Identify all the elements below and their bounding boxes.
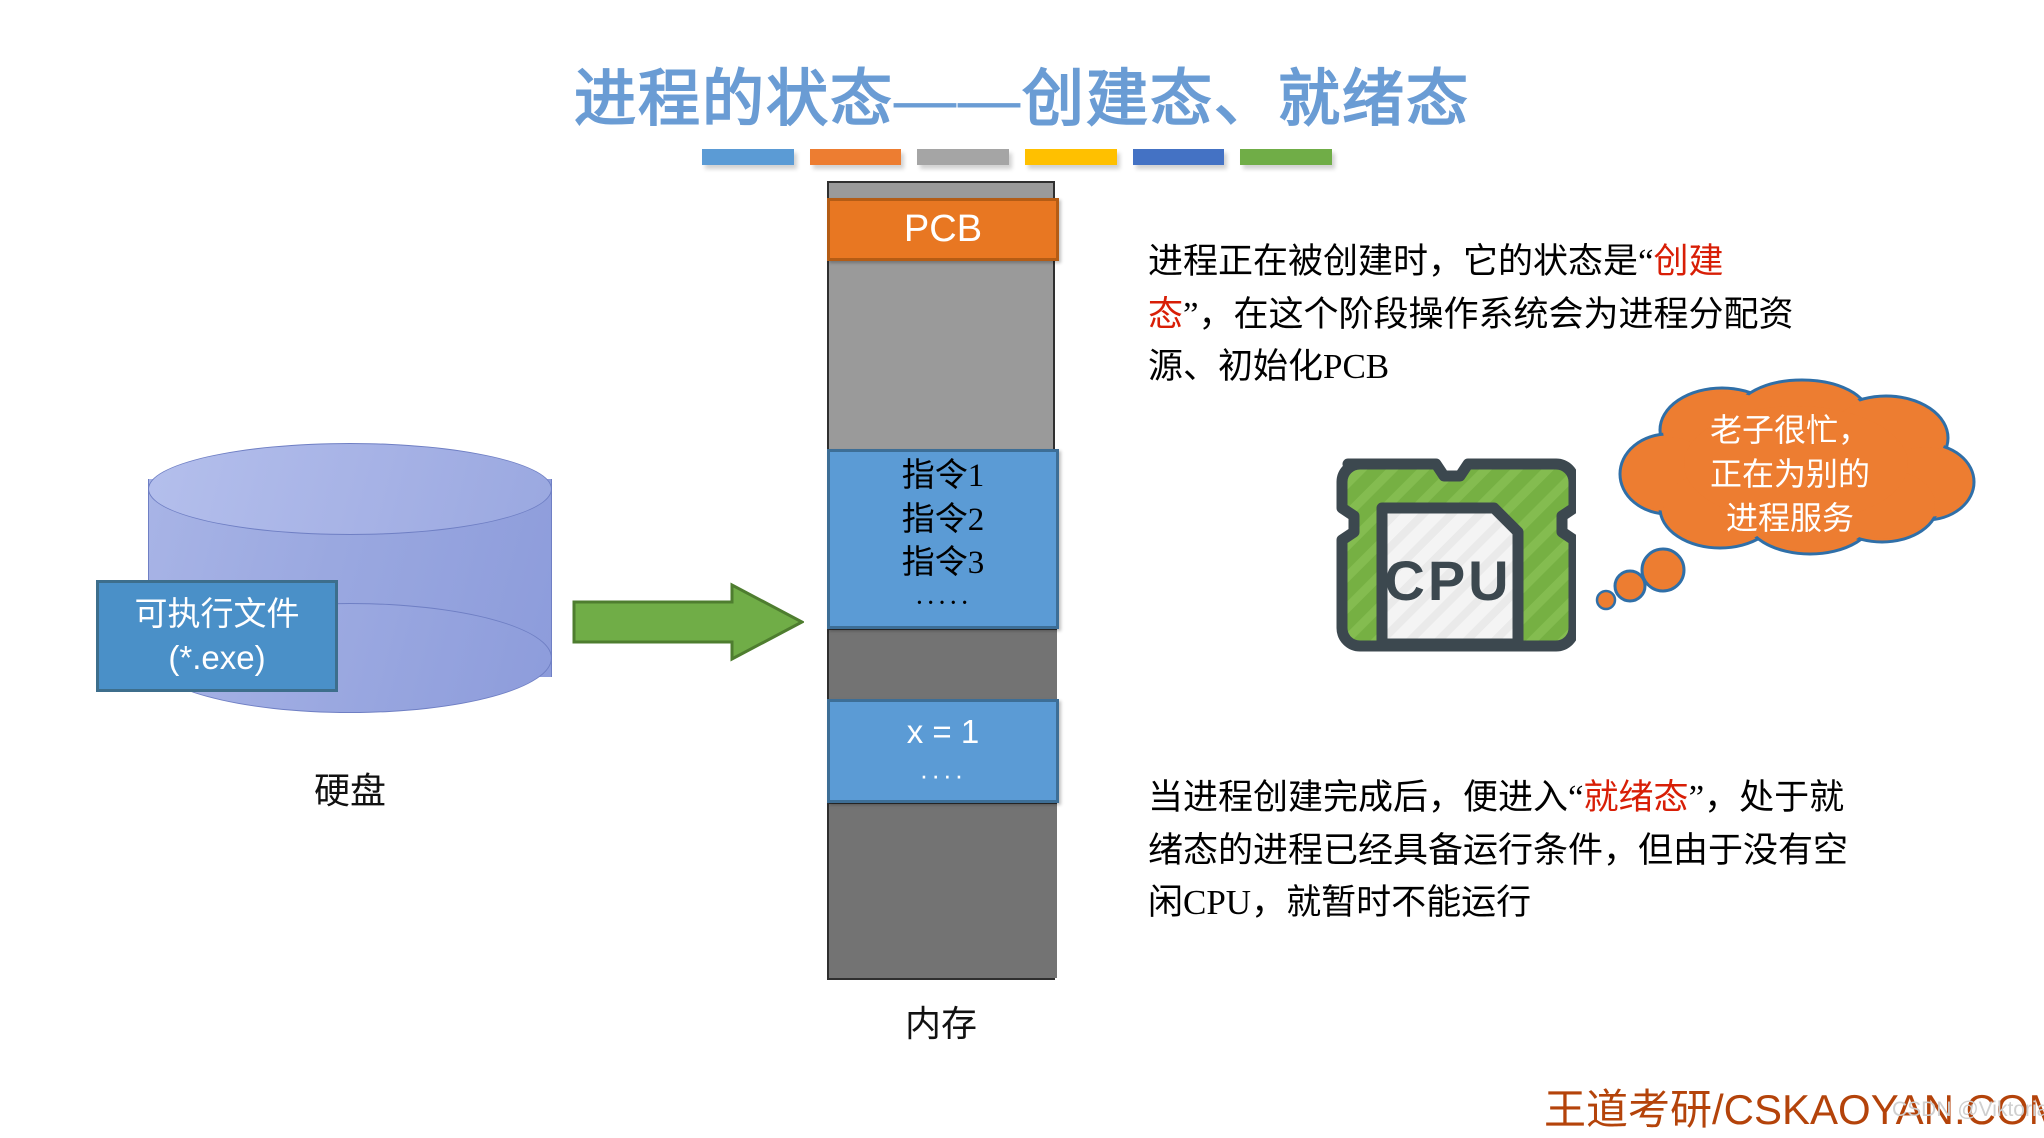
memory-block-code: 指令1 指令2 指令3 ····· <box>827 449 1059 629</box>
ready-state-highlight: 就绪态 <box>1584 778 1689 817</box>
load-arrow-icon <box>572 582 804 662</box>
create-text-part-2: ”，在这个阶段操作系统会为进程分配资源、初始化PCB <box>1148 295 1794 387</box>
create-text-part-1: 进程正在被创建时，它的状态是“ <box>1148 242 1654 281</box>
memory-block-data: x = 1 ···· <box>827 699 1059 803</box>
code-line-2: 指令2 <box>902 499 985 543</box>
cpu-icon: CPU <box>1320 442 1576 698</box>
accent-bar-green <box>1240 149 1332 165</box>
code-line-1: 指令1 <box>902 455 985 499</box>
accent-bar-orange <box>810 149 902 165</box>
code-ellipsis: ····· <box>915 586 972 623</box>
slide-canvas: 进程的状态——创建态、就绪态 可执行文件 (*.exe) 硬盘 PCB 指令1 … <box>0 0 2044 1138</box>
data-ellipsis: ···· <box>920 756 967 795</box>
accent-bar-group <box>702 149 1332 167</box>
footer-watermark: CSDN @Viktoriae <box>1892 1098 2044 1122</box>
hard-disk-label: 硬盘 <box>148 762 552 814</box>
cylinder-top <box>148 443 552 535</box>
code-line-3: 指令3 <box>902 542 985 586</box>
accent-bar-indigo <box>1133 149 1225 165</box>
data-line: x = 1 <box>907 707 979 757</box>
memory-gray-segment-bottom <box>829 803 1057 978</box>
executable-file-ext: (*.exe) <box>168 636 265 680</box>
executable-file-box: 可执行文件 (*.exe) <box>96 580 338 692</box>
accent-bar-gray <box>917 149 1009 165</box>
pcb-label: PCB <box>904 208 982 251</box>
thought-bubble <box>1610 378 1980 558</box>
memory-block-pcb: PCB <box>827 198 1059 261</box>
paragraph-ready-state: 当进程创建完成后，便进入“就绪态”，处于就绪态的进程已经具备运行条件，但由于没有… <box>1148 772 1868 930</box>
memory-column: PCB 指令1 指令2 指令3 ····· x = 1 ···· <box>827 181 1055 980</box>
cpu-text: CPU <box>1384 549 1511 612</box>
paragraph-create-state: 进程正在被创建时，它的状态是“创建态”，在这个阶段操作系统会为进程分配资源、初始… <box>1148 236 1808 394</box>
accent-bar-blue <box>702 149 794 165</box>
executable-file-name: 可执行文件 <box>135 592 300 636</box>
ready-text-part-1: 当进程创建完成后，便进入“ <box>1148 778 1584 817</box>
accent-bar-yellow <box>1025 149 1117 165</box>
memory-label: 内存 <box>827 995 1055 1047</box>
page-title: 进程的状态——创建态、就绪态 <box>0 48 2044 138</box>
memory-gray-segment-lower <box>829 629 1057 699</box>
